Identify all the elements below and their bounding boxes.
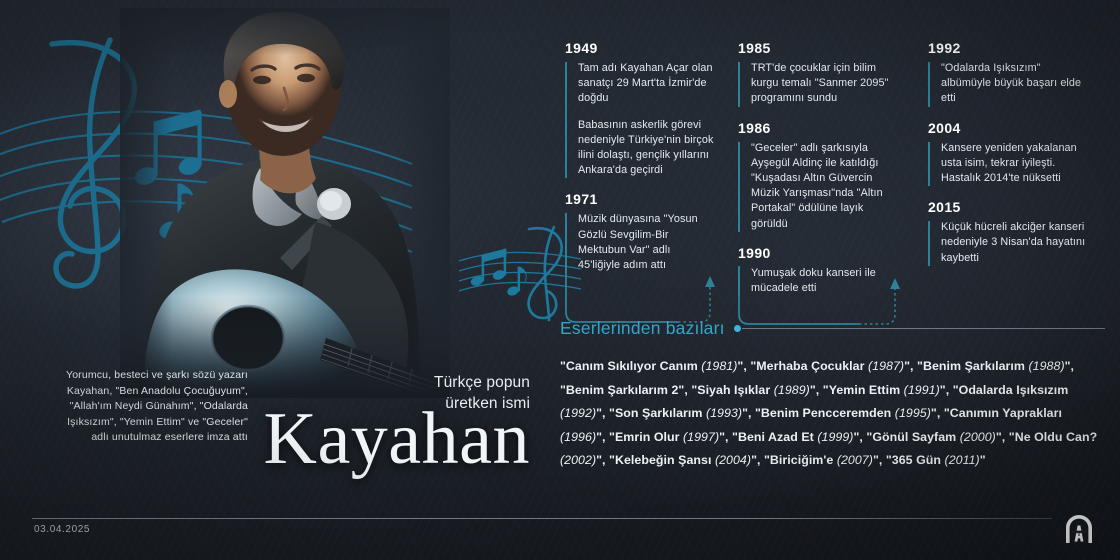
- works-bullet-icon: [734, 325, 741, 332]
- timeline-entry-body: "Geceler" adlı şarkısıyla Ayşegül Aldinç…: [738, 141, 898, 232]
- timeline: 1949 Tam adı Kayahan Açar olan sanatçı 2…: [560, 40, 1105, 310]
- aa-logo-icon: [1062, 512, 1096, 546]
- timeline-column-3: 1992 "Odalarda Işıksızım" albümüyle büyü…: [928, 40, 1093, 279]
- hero-kicker-line1: Türkçe popun: [330, 372, 530, 393]
- timeline-rule: [565, 213, 567, 273]
- work-year: (2000): [960, 430, 996, 444]
- timeline-year: 2004: [928, 120, 1093, 136]
- timeline-paragraph: Babasının askerlik görevi nedeniyle Türk…: [578, 118, 715, 179]
- work-year: (1996): [560, 430, 596, 444]
- work-year: (1987): [868, 359, 904, 373]
- footer-date: 03.04.2025: [34, 524, 90, 535]
- work-year: (1995): [895, 406, 931, 420]
- works-divider-line: [742, 328, 1105, 329]
- timeline-entry-2015: 2015 Küçük hücreli akciğer kanseri neden…: [928, 199, 1093, 266]
- timeline-entry-1985: 1985 TRT'de çocuklar için bilim kurgu te…: [738, 40, 898, 107]
- infographic-poster: Yorumcu, besteci ve şarkı sözü yazarı Ka…: [0, 0, 1120, 560]
- timeline-year: 1985: [738, 40, 898, 56]
- timeline-entry-1971: 1971 Müzik dünyasına "Yosun Gözlü Sevgil…: [565, 191, 715, 273]
- timeline-year: 2015: [928, 199, 1093, 215]
- timeline-paragraph: "Odalarda Işıksızım" albümüyle büyük baş…: [941, 61, 1093, 107]
- timeline-entry-body: Küçük hücreli akciğer kanseri nedeniyle …: [928, 220, 1093, 266]
- work-year: (1993): [706, 406, 742, 420]
- timeline-year: 1990: [738, 245, 898, 261]
- work-year: (1999): [817, 430, 853, 444]
- work-year: (1989): [774, 383, 810, 397]
- work-year: (1992): [560, 406, 596, 420]
- timeline-paragraph: Tam adı Kayahan Açar olan sanatçı 29 Mar…: [578, 61, 715, 107]
- timeline-entry-body: "Odalarda Işıksızım" albümüyle büyük baş…: [928, 61, 1093, 107]
- timeline-paragraph: TRT'de çocuklar için bilim kurgu temalı …: [751, 61, 898, 107]
- timeline-rule: [738, 267, 740, 296]
- timeline-rule: [738, 62, 740, 107]
- work-year: (1988): [1029, 359, 1065, 373]
- work-year: (2011): [945, 453, 980, 467]
- timeline-paragraph: "Geceler" adlı şarkısıyla Ayşegül Aldinç…: [751, 141, 898, 232]
- timeline-entry-body: Yumuşak doku kanseri ile mücadele etti: [738, 266, 898, 296]
- timeline-rule: [738, 142, 740, 232]
- works-header: Eserlerinden bazıları: [560, 318, 1105, 339]
- timeline-column-1: 1949 Tam adı Kayahan Açar olan sanatçı 2…: [565, 40, 715, 286]
- timeline-year: 1986: [738, 120, 898, 136]
- timeline-entry-body: TRT'de çocuklar için bilim kurgu temalı …: [738, 61, 898, 107]
- work-year: (1991): [904, 383, 940, 397]
- timeline-paragraph: Yumuşak doku kanseri ile mücadele etti: [751, 266, 898, 296]
- timeline-entry-body: Tam adı Kayahan Açar olan sanatçı 29 Mar…: [565, 61, 715, 178]
- timeline-entry-body: Müzik dünyasına "Yosun Gözlü Sevgilim-Bi…: [565, 212, 715, 273]
- timeline-rule: [928, 221, 930, 266]
- timeline-entry-2004: 2004 Kansere yeniden yakalanan usta isim…: [928, 120, 1093, 187]
- timeline-year: 1971: [565, 191, 715, 207]
- timeline-year: 1992: [928, 40, 1093, 56]
- timeline-rule: [928, 142, 930, 187]
- work-year: (2004): [715, 453, 751, 467]
- works-title: Eserlerinden bazıları: [560, 318, 725, 339]
- timeline-entry-1992: 1992 "Odalarda Işıksızım" albümüyle büyü…: [928, 40, 1093, 107]
- work-year: (2007): [837, 453, 873, 467]
- timeline-paragraph: Kansere yeniden yakalanan usta isim, tek…: [941, 141, 1093, 187]
- timeline-column-2: 1985 TRT'de çocuklar için bilim kurgu te…: [738, 40, 898, 309]
- timeline-paragraph: Müzik dünyasına "Yosun Gözlü Sevgilim-Bi…: [578, 212, 715, 273]
- works-section: Eserlerinden bazıları "Canım Sıkılıyor C…: [560, 318, 1105, 473]
- work-year: (2002): [560, 453, 596, 467]
- work-year: (1981): [701, 359, 737, 373]
- timeline-entry-1986: 1986 "Geceler" adlı şarkısıyla Ayşegül A…: [738, 120, 898, 232]
- page-title: Kayahan: [200, 398, 530, 480]
- timeline-entry-body: Kansere yeniden yakalanan usta isim, tek…: [928, 141, 1093, 187]
- timeline-year: 1949: [565, 40, 715, 56]
- footer-divider: [32, 518, 1052, 519]
- works-list: "Canım Sıkılıyor Canım (1981)", "Merhaba…: [560, 355, 1105, 473]
- timeline-paragraph: Küçük hücreli akciğer kanseri nedeniyle …: [941, 220, 1093, 266]
- kayahan-portrait-photo: [120, 8, 450, 398]
- timeline-rule: [928, 62, 930, 107]
- timeline-rule: [565, 62, 567, 178]
- timeline-entry-1949: 1949 Tam adı Kayahan Açar olan sanatçı 2…: [565, 40, 715, 178]
- timeline-entry-1990: 1990 Yumuşak doku kanseri ile mücadele e…: [738, 245, 898, 296]
- work-year: (1997): [683, 430, 719, 444]
